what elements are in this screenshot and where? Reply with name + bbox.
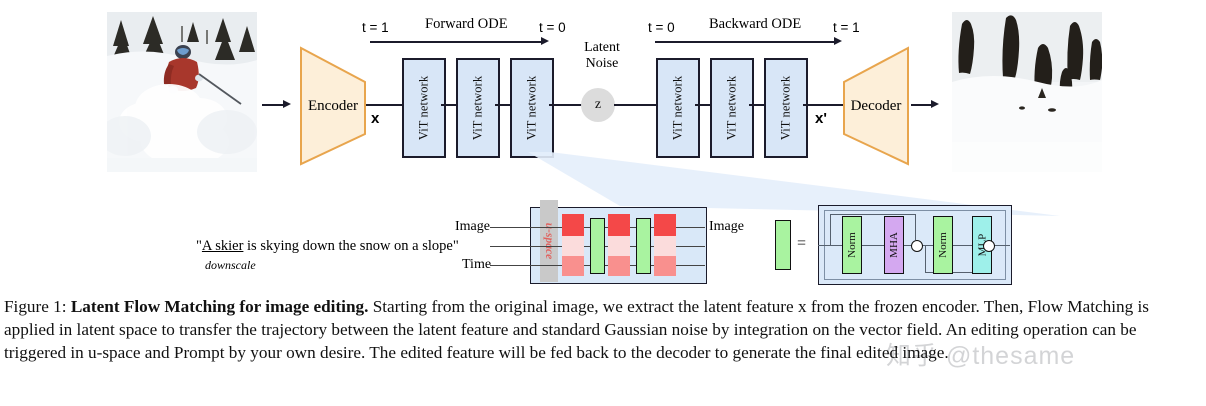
attn-block-r3c3 [654, 256, 676, 276]
latent-noise-line2: Noise [566, 56, 638, 72]
wire-vit2-vit3 [495, 104, 511, 106]
vit-block-label: ViT network [671, 76, 686, 140]
skip-connection-1-left [830, 214, 831, 246]
wire-vit6-to-decoder [803, 104, 843, 106]
attn-block-r2c3 [654, 236, 676, 256]
vit-block-backward-1: ViT network [656, 58, 700, 158]
figure-caption: Figure 1: Latent Flow Matching for image… [4, 296, 1202, 365]
attn-block-r2c2 [608, 236, 630, 256]
vit-block-forward-1: ViT network [402, 58, 446, 158]
prompt-remainder: is skying down the snow on a slope" [243, 238, 458, 254]
figure-title: Latent Flow Matching for image editing. [71, 297, 369, 316]
attn-block-r1c3 [654, 214, 676, 236]
skip-connection-2-left [925, 246, 926, 273]
vit-bar-detail-2 [636, 218, 651, 274]
attn-block-r3c1 [562, 256, 584, 276]
mha-block-label: MHA [888, 232, 900, 258]
detail-output-label-image: Image [709, 219, 744, 235]
equals-sign: = [797, 235, 806, 253]
forward-ode-arrow-line [370, 41, 542, 43]
source-image [107, 12, 257, 172]
decoder-block: Decoder [840, 42, 912, 170]
vit-block-backward-2: ViT network [710, 58, 754, 158]
vit-block-label: ViT network [725, 76, 740, 140]
vit-block-backward-3: ViT network [764, 58, 808, 158]
figure-root: Encoder x t = 1 Forward ODE t = 0 ViT ne… [0, 0, 1206, 406]
forward-t-end: t = 0 [539, 20, 566, 35]
u-space-band: u-space [540, 200, 558, 282]
encoder-block: Encoder [297, 42, 369, 170]
residual-add-node-1 [911, 240, 923, 252]
backward-ode-label: Backward ODE [709, 16, 801, 33]
output-arrowhead [931, 100, 939, 108]
residual-add-node-2 [983, 240, 995, 252]
wire-vit3-to-z [549, 104, 583, 106]
vit-block-label: ViT network [471, 76, 486, 140]
wire-encoder-to-vit1 [366, 104, 402, 106]
norm-block-2: Norm [933, 216, 953, 274]
vit-bar-legend [775, 220, 791, 270]
encoder-label: Encoder [297, 42, 369, 170]
decoder-label: Decoder [840, 42, 912, 170]
backward-ode-arrow-line [655, 41, 835, 43]
forward-t-start: t = 1 [362, 20, 389, 35]
attn-block-r1c1 [562, 214, 584, 236]
forward-ode-arrowhead [541, 37, 549, 45]
detail-input-label-time: Time [462, 257, 491, 273]
latent-x-label: x [371, 110, 379, 127]
vit-block-forward-2: ViT network [456, 58, 500, 158]
backward-t-end: t = 1 [833, 20, 860, 35]
norm-block-1: Norm [842, 216, 862, 274]
latent-z-node: z [581, 88, 615, 122]
latent-noise-label: Latent Noise [566, 40, 638, 71]
forward-ode-label: Forward ODE [425, 16, 508, 33]
input-wire [262, 104, 284, 106]
detail-input-label-image: Image [455, 219, 490, 235]
edited-image [952, 12, 1102, 172]
wire-vit4-vit5 [695, 104, 711, 106]
input-arrowhead [283, 100, 291, 108]
vit-bar-detail-1 [590, 218, 605, 274]
vit-block-label: ViT network [417, 76, 432, 140]
figure-label: Figure 1: [4, 297, 67, 316]
backward-t-start: t = 0 [648, 20, 675, 35]
latent-noise-line1: Latent [566, 40, 638, 56]
mha-block: MHA [884, 216, 904, 274]
downscale-label: downscale [205, 258, 256, 273]
prompt-text: "A skier is skying down the snow on a sl… [196, 238, 459, 255]
output-wire [911, 104, 933, 106]
prompt-underlined-phrase: A skier [202, 238, 243, 254]
wire-vit5-vit6 [749, 104, 765, 106]
norm-block-2-label: Norm [937, 232, 949, 258]
attn-block-r2c1 [562, 236, 584, 256]
attn-block-r1c2 [608, 214, 630, 236]
wire-vit1-vit2 [441, 104, 457, 106]
skip-connection-1-right [915, 214, 916, 240]
wire-z-to-vit4 [614, 104, 657, 106]
vit-block-label: ViT network [525, 76, 540, 140]
attn-block-r3c2 [608, 256, 630, 276]
latent-x-prime-label: x' [815, 110, 827, 127]
norm-block-1-label: Norm [846, 232, 858, 258]
vit-block-label: ViT network [779, 76, 794, 140]
vit-block-forward-3: ViT network [510, 58, 554, 158]
